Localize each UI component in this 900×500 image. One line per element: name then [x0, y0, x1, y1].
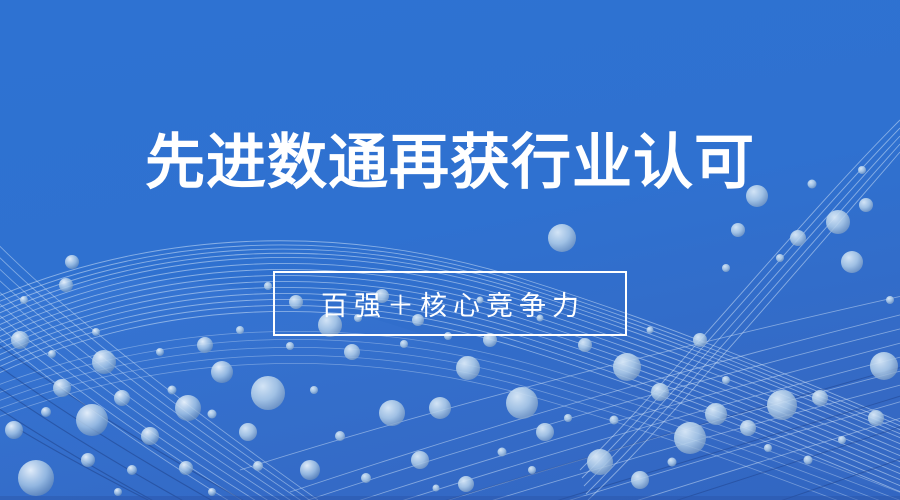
- subtitle-badge: 百强＋核心竞争力: [273, 271, 627, 336]
- wave-bubble-decoration: [0, 0, 900, 500]
- subtitle-text: 百强＋核心竞争力: [315, 284, 585, 323]
- promo-banner: 先进数通再获行业认可 百强＋核心竞争力: [0, 0, 900, 500]
